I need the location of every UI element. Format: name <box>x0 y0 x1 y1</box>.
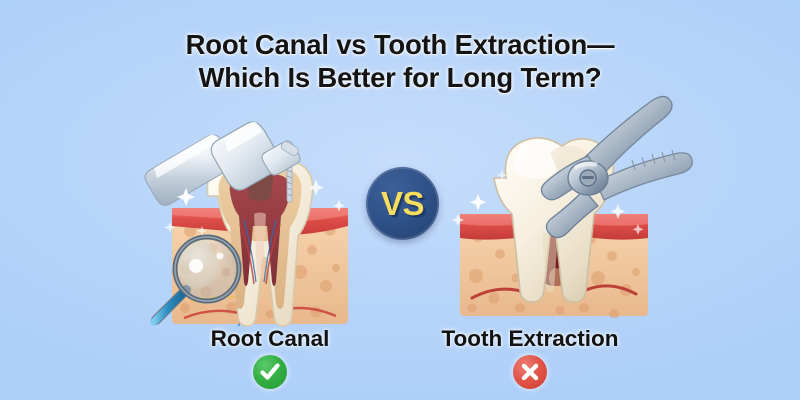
option-label-root-canal: Root Canal <box>170 326 370 352</box>
poster-canvas: Root Canal vs Tooth Extraction— Which Is… <box>0 0 800 400</box>
option-label-tooth-extraction: Tooth Extraction <box>425 326 635 352</box>
cross-mark-icon <box>513 355 547 389</box>
title-line-1: Root Canal vs Tooth Extraction— <box>0 28 800 61</box>
tooth-extraction-illustration <box>432 86 692 326</box>
page-title: Root Canal vs Tooth Extraction— Which Is… <box>0 28 800 94</box>
root-canal-illustration <box>140 96 380 326</box>
vs-badge-label: VS <box>381 185 424 223</box>
vs-badge: VS <box>366 167 439 240</box>
check-mark-icon <box>253 355 287 389</box>
